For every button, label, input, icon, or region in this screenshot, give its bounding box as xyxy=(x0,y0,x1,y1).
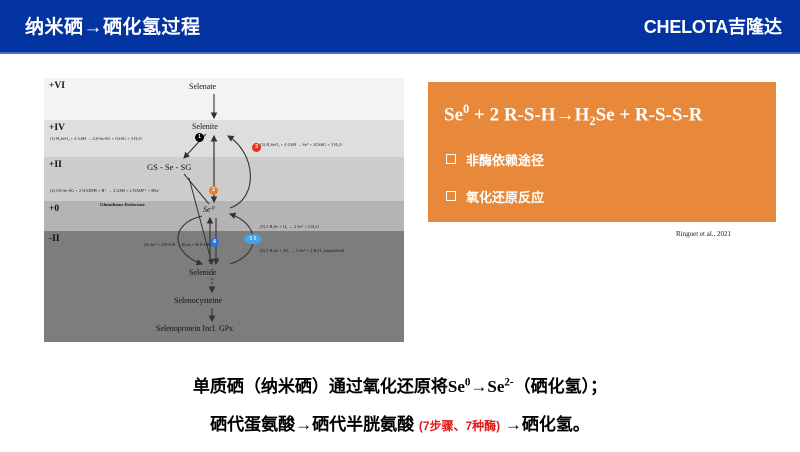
callout-bullet-1: 非酶依赖途径 xyxy=(446,150,544,169)
bullet-square-icon xyxy=(446,191,456,201)
step-badge-1: 1 xyxy=(195,133,204,142)
node-selenate: Selenate xyxy=(189,82,216,91)
node-selenoprotein: Selenoprotein Incl. GPx xyxy=(156,324,233,333)
step-badge-2: 2 xyxy=(209,186,218,195)
brand-logo-en: CHELOTA xyxy=(644,17,728,37)
enzyme-label-glutathione-reductase: Glutathione Reductase xyxy=(100,202,145,207)
caption-line-1: 单质硒（纳米硒）通过氧化还原将Se0→Se2-（硒化氢）； xyxy=(0,372,800,397)
figure-citation: Ringuet et al., 2021 xyxy=(676,230,731,238)
callout-bullet-1-label: 非酶依赖途径 xyxy=(466,153,544,168)
reaction-callout-box: Se0 + 2 R-S-H→H2Se + R-S-S-R 非酶依赖途径 氧化还原… xyxy=(428,82,776,222)
step-badge-4: 4 xyxy=(210,238,219,247)
step-badge-5-6: 5 6 xyxy=(244,234,262,244)
brand-logo-cn: 吉隆达 xyxy=(728,17,782,37)
slide-header-bar: 纳米硒→硒化氢过程 CHELOTA吉隆达 xyxy=(0,0,800,52)
reaction-equation-3: (3) H₂SeO₃ + 4 GSH → Se⁰ + 2GSSG + 3 H₂O xyxy=(260,142,342,147)
reaction-equation-1: (1) H₂SeO₄ + 4 GSH → GS-Se-SG + GSSG + 3… xyxy=(50,136,142,141)
node-gs-se-sg: GS - Se - SG xyxy=(147,162,191,172)
header-divider xyxy=(0,52,800,54)
reaction-equation-4: (4) Se⁰ + 2 R-S-H → H₂Se + R-S-S-R xyxy=(144,242,210,247)
caption-line-2: 硒代蛋氨酸→硒代半胱氨酸 (7步骤、7种酶) →硒化氢。 xyxy=(0,410,800,435)
node-se-zero: Se⁰ xyxy=(203,205,214,214)
brand-logo: CHELOTA吉隆达 xyxy=(644,13,782,39)
step-badge-3: 3 xyxy=(252,143,261,152)
node-selenocysteine: Selenocysteine xyxy=(174,296,222,305)
diagram-arrows xyxy=(44,78,404,342)
node-selenide: Selenide xyxy=(189,268,217,277)
node-selenite: Selenite xyxy=(192,122,218,131)
reaction-equation-2: (2) GS-Se-SG + 2 NADPH + H⁺ → 2 GSH + 2 … xyxy=(50,188,161,193)
callout-bullet-2-label: 氧化还原反应 xyxy=(466,190,544,205)
reaction-equation-5: (5) 2 H₂Se + O₂ → 2 Se⁰ + 2 H₂O xyxy=(260,224,319,229)
callout-bullet-2: 氧化还原反应 xyxy=(446,187,544,206)
page-title: 纳米硒→硒化氢过程 xyxy=(25,12,201,39)
bullet-square-icon xyxy=(446,154,456,164)
selenium-metabolism-diagram: +VI +IV +II +0 -II Selenat xyxy=(44,78,404,342)
callout-main-equation: Se0 + 2 R-S-H→H2Se + R-S-S-R xyxy=(444,102,703,129)
reaction-equation-6: (6) 2 H₂Se + 2O₂ → 2 Se⁰ + 2 H₂O₂ (simpl… xyxy=(260,248,344,253)
